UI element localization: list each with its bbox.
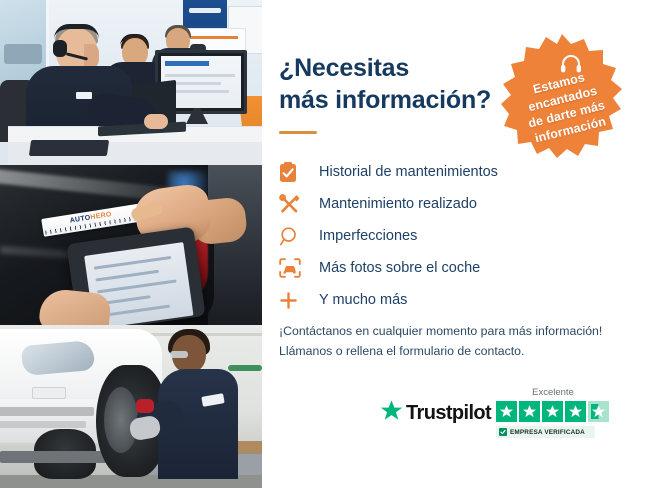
- safety-glasses: [170, 351, 188, 358]
- magnifier-icon: [279, 223, 309, 249]
- tablet-row: [94, 256, 172, 270]
- trustpilot-rating-block: Excelente: [496, 387, 650, 438]
- monitor-content-row: [165, 74, 235, 77]
- license-plate: [32, 387, 66, 399]
- support-badge: Estamos encantados de darte más informac…: [498, 32, 626, 160]
- verified-check-icon: [499, 428, 507, 436]
- feature-item-maintenance-done: Mantenimiento realizado: [279, 188, 609, 220]
- car-grille-lower: [0, 421, 86, 428]
- feature-item-more: Y mucho más: [279, 284, 609, 316]
- rating-label: Excelente: [498, 387, 608, 398]
- contact-copy: ¡Contáctanos en cualquier momento para m…: [279, 322, 629, 362]
- tablet-row: [97, 279, 177, 293]
- star-filled: [496, 401, 517, 422]
- feature-label: Más fotos sobre el coche: [309, 260, 480, 276]
- verified-label: EMPRESA VERIFICADA: [510, 429, 585, 436]
- feature-label: Historial de mantenimientos: [309, 164, 498, 180]
- star-half: [588, 401, 609, 422]
- headset-band: [54, 24, 99, 39]
- car-headlight: [21, 340, 95, 376]
- photo-column: AUTOHERO: [0, 0, 262, 488]
- feature-label: Imperfecciones: [309, 228, 417, 244]
- star-rating: [496, 401, 650, 422]
- clipboard-check-icon: [279, 159, 309, 185]
- promo-banner: AUTOHERO: [0, 0, 650, 488]
- star-filled: [519, 401, 540, 422]
- keyboard: [29, 140, 109, 156]
- trustpilot-widget[interactable]: Trustpilot Excelente: [380, 387, 650, 449]
- feature-item-car-photos: Más fotos sobre el coche: [279, 252, 609, 284]
- feature-item-maintenance-history: Historial de mantenimientos: [279, 156, 609, 188]
- content-panel: ¿Necesitas más información? Estamos enca…: [262, 0, 650, 488]
- headline-line-1: ¿Necesitas: [279, 54, 409, 82]
- headline-line-2: más información?: [279, 86, 491, 114]
- tablet-row: [95, 270, 159, 282]
- green-hose: [228, 365, 262, 371]
- mechanic-tool: [136, 399, 154, 413]
- headset-earcup: [53, 40, 67, 57]
- trustpilot-wordmark: Trustpilot: [406, 402, 491, 425]
- title-divider: [279, 131, 317, 134]
- feature-list: Historial de mantenimientos Mantenimient…: [279, 156, 609, 316]
- car-inspection-photo: AUTOHERO: [0, 165, 262, 325]
- contact-line-2: Llámanos o rellena el formulario de cont…: [279, 342, 629, 362]
- star-filled: [565, 401, 586, 422]
- agent-name-badge: [76, 92, 92, 99]
- star-filled: [542, 401, 563, 422]
- tablet-row: [100, 305, 170, 318]
- car-frame-icon: [279, 255, 309, 281]
- contact-line-1: ¡Contáctanos en cualquier momento para m…: [279, 322, 629, 342]
- trustpilot-star-icon: [380, 399, 403, 427]
- car-grille-upper: [0, 407, 94, 416]
- plus-icon: [279, 287, 309, 313]
- tire-inspection-photo: [0, 325, 262, 488]
- crossed-tools-icon: [279, 191, 309, 217]
- agent-face-shadow: [84, 44, 99, 68]
- trustpilot-logo[interactable]: Trustpilot: [380, 399, 491, 427]
- verified-company-badge: EMPRESA VERIFICADA: [496, 426, 595, 438]
- monitor-header-bar: [165, 61, 209, 66]
- call-center-agents-photo: [0, 0, 262, 165]
- background-person: [208, 165, 262, 325]
- feature-item-imperfections: Imperfecciones: [279, 220, 609, 252]
- feature-label: Y mucho más: [309, 292, 407, 308]
- page-title: ¿Necesitas más información?: [279, 52, 509, 116]
- feature-label: Mantenimiento realizado: [309, 196, 477, 212]
- agent-hand: [144, 114, 168, 129]
